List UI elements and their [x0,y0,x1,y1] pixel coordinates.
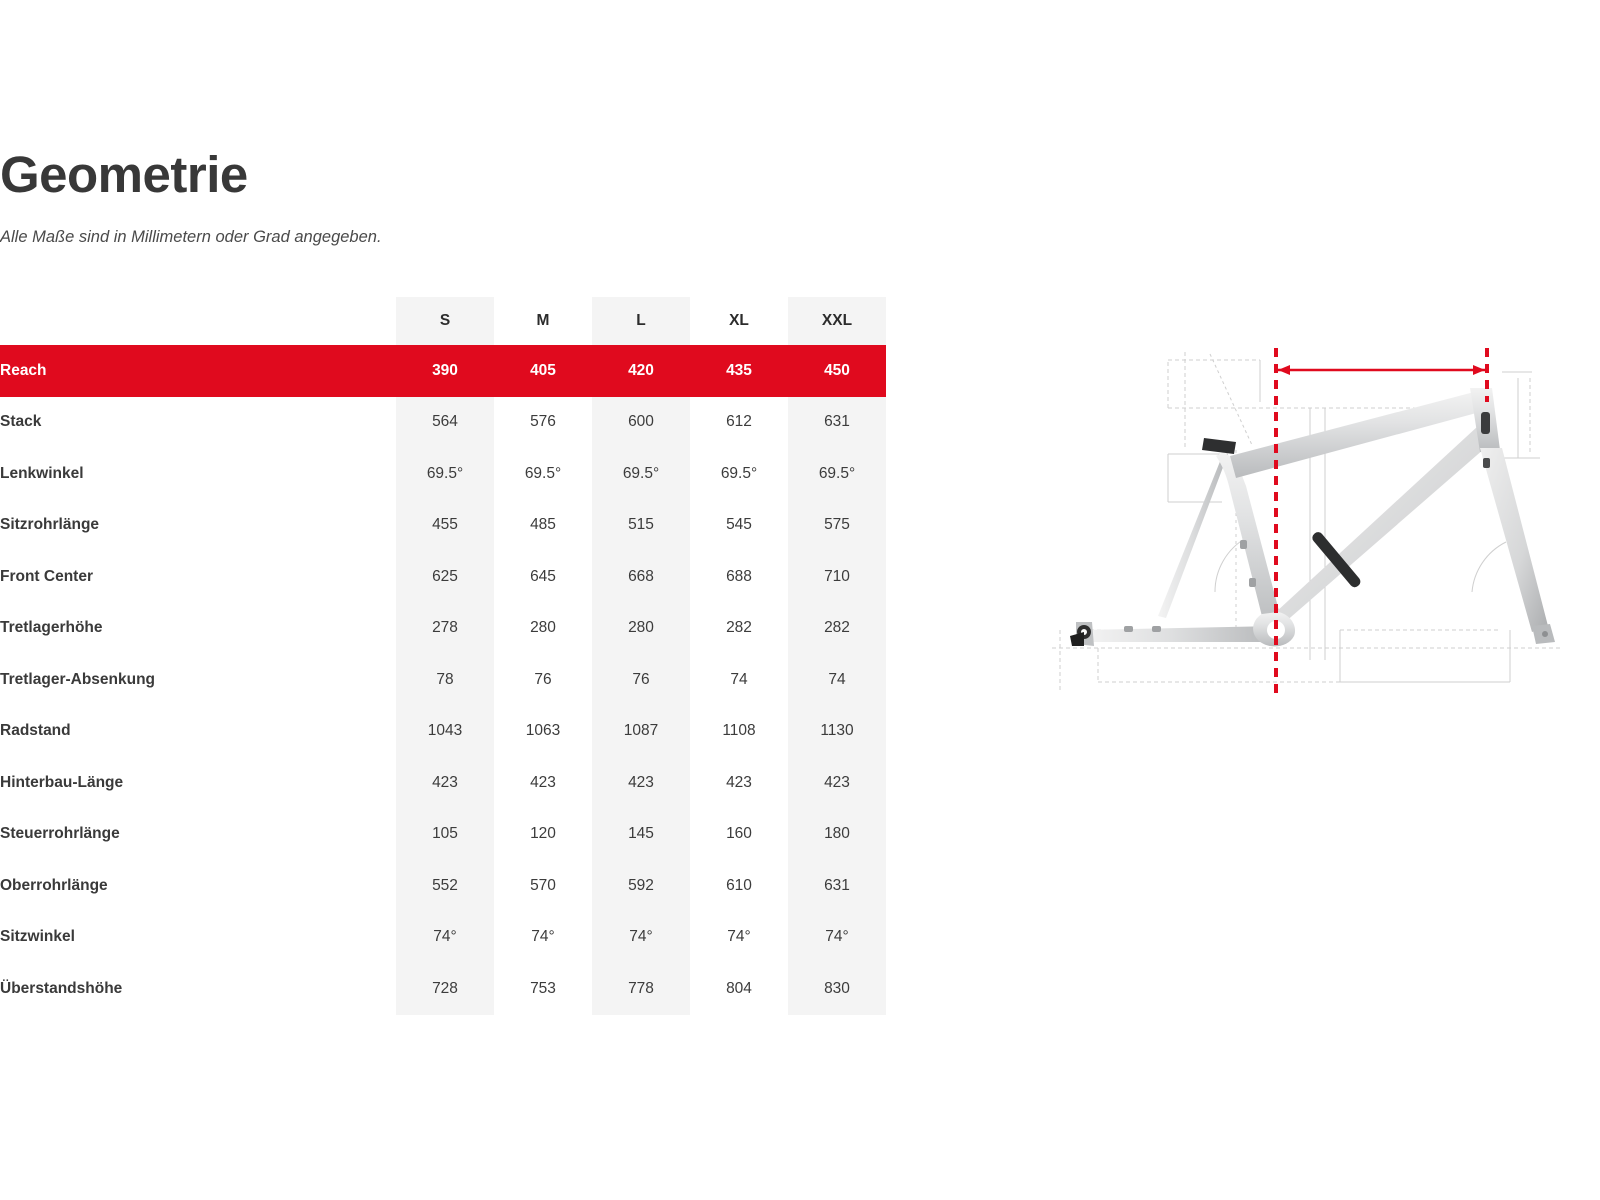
table-row: Sitzrohrlänge455485515545575 [0,500,886,552]
cell-value: 278 [396,603,494,655]
cell-value: 423 [690,757,788,809]
cell-value: 631 [788,860,886,912]
cell-value: 105 [396,809,494,861]
column-header-s: S [396,297,494,345]
cell-value: 76 [592,654,690,706]
cell-value: 1043 [396,706,494,758]
column-header-l: L [592,297,690,345]
row-label: Reach [0,345,396,397]
cell-value: 74° [494,912,592,964]
cell-value: 688 [690,551,788,603]
cell-value: 423 [396,757,494,809]
row-label: Sitzwinkel [0,912,396,964]
cell-value: 570 [494,860,592,912]
table-header: SMLXLXXL [0,297,886,345]
table-row: Front Center625645668688710 [0,551,886,603]
cell-value: 160 [690,809,788,861]
cell-value: 545 [690,500,788,552]
row-label: Tretlager-Absenkung [0,654,396,706]
cell-value: 74° [788,912,886,964]
table-row: Überstandshöhe728753778804830 [0,963,886,1015]
row-label: Sitzrohrlänge [0,500,396,552]
table-row: Steuerrohrlänge105120145160180 [0,809,886,861]
cell-value: 74 [788,654,886,706]
frame-diagram-svg [1040,330,1585,710]
frame-tubes [1070,388,1555,646]
row-label: Lenkwinkel [0,448,396,500]
cell-value: 69.5° [788,448,886,500]
cell-value: 390 [396,345,494,397]
cell-value: 423 [592,757,690,809]
table-row: Tretlagerhöhe278280280282282 [0,603,886,655]
reach-arrow-left [1278,365,1290,375]
cell-value: 180 [788,809,886,861]
cell-value: 282 [690,603,788,655]
row-label: Oberrohrlänge [0,860,396,912]
page-root: Geometrie Alle Maße sind in Millimetern … [0,0,1600,1200]
cell-value: 728 [396,963,494,1015]
cell-value: 120 [494,809,592,861]
cell-value: 753 [494,963,592,1015]
cell-value: 515 [592,500,690,552]
cell-value: 423 [788,757,886,809]
cell-value: 552 [396,860,494,912]
row-label: Stack [0,397,396,449]
geometry-table: SMLXLXXL Reach390405420435450Stack564576… [0,297,886,1015]
row-label: Front Center [0,551,396,603]
cell-value: 485 [494,500,592,552]
heading-block: Geometrie Alle Maße sind in Millimetern … [0,148,900,247]
cell-value: 1108 [690,706,788,758]
cell-value: 710 [788,551,886,603]
cell-value: 435 [690,345,788,397]
cell-value: 625 [396,551,494,603]
cell-value: 576 [494,397,592,449]
cell-value: 76 [494,654,592,706]
cell-value: 74° [396,912,494,964]
cell-value: 280 [592,603,690,655]
cell-value: 74° [592,912,690,964]
table-row: Reach390405420435450 [0,345,886,397]
page-subtitle: Alle Maße sind in Millimetern oder Grad … [0,202,900,247]
cell-value: 420 [592,345,690,397]
column-header-m: M [494,297,592,345]
cell-value: 830 [788,963,886,1015]
cell-value: 450 [788,345,886,397]
row-label: Radstand [0,706,396,758]
cell-value: 592 [592,860,690,912]
cell-value: 575 [788,500,886,552]
table-body: Reach390405420435450Stack564576600612631… [0,345,886,1015]
reach-arrow-right [1473,365,1485,375]
cell-value: 645 [494,551,592,603]
table-row: Tretlager-Absenkung7876767474 [0,654,886,706]
page-title: Geometrie [0,148,900,202]
cell-value: 610 [690,860,788,912]
cell-value: 612 [690,397,788,449]
cell-value: 1087 [592,706,690,758]
cell-value: 78 [396,654,494,706]
cell-value: 145 [592,809,690,861]
cell-value: 405 [494,345,592,397]
row-label: Hinterbau-Länge [0,757,396,809]
cell-value: 280 [494,603,592,655]
cell-value: 804 [690,963,788,1015]
table-row: Sitzwinkel74°74°74°74°74° [0,912,886,964]
bicycle-frame-geometry-diagram [1040,330,1585,710]
cell-value: 74 [690,654,788,706]
column-header-label [0,297,396,345]
geometry-table-container: SMLXLXXL Reach390405420435450Stack564576… [0,297,900,1015]
column-header-xxl: XXL [788,297,886,345]
cell-value: 778 [592,963,690,1015]
cell-value: 564 [396,397,494,449]
cell-value: 1063 [494,706,592,758]
row-label: Überstandshöhe [0,963,396,1015]
table-row: Oberrohrlänge552570592610631 [0,860,886,912]
cell-value: 631 [788,397,886,449]
cell-value: 74° [690,912,788,964]
cell-value: 282 [788,603,886,655]
column-header-xl: XL [690,297,788,345]
cell-value: 423 [494,757,592,809]
cell-value: 600 [592,397,690,449]
row-label: Tretlagerhöhe [0,603,396,655]
cell-value: 668 [592,551,690,603]
cell-value: 69.5° [494,448,592,500]
table-row: Hinterbau-Länge423423423423423 [0,757,886,809]
cell-value: 1130 [788,706,886,758]
cell-value: 455 [396,500,494,552]
cell-value: 69.5° [396,448,494,500]
table-header-row: SMLXLXXL [0,297,886,345]
row-label: Steuerrohrlänge [0,809,396,861]
table-row: Lenkwinkel69.5°69.5°69.5°69.5°69.5° [0,448,886,500]
cell-value: 69.5° [690,448,788,500]
cell-value: 69.5° [592,448,690,500]
table-row: Radstand10431063108711081130 [0,706,886,758]
table-row: Stack564576600612631 [0,397,886,449]
